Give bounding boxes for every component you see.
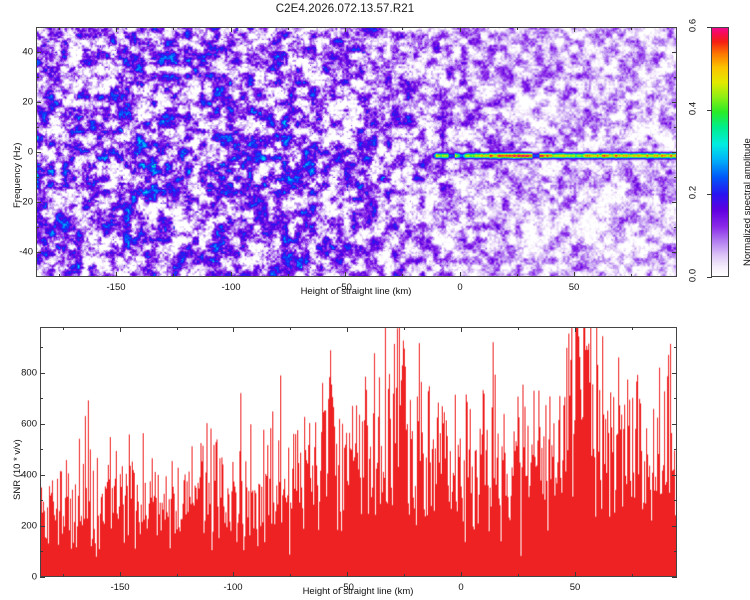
axis-tick	[290, 574, 291, 577]
axis-tick	[518, 574, 519, 577]
snr-y-axis-label: SNR (10 * v/v)	[12, 439, 23, 500]
axis-tick-label: -100	[221, 282, 240, 293]
axis-tick	[231, 272, 232, 277]
axis-tick	[36, 227, 39, 228]
colorbar-tick-label: 0.4	[688, 97, 699, 121]
axis-tick	[672, 252, 677, 253]
snr-trace	[41, 328, 676, 576]
axis-tick-label: 50	[569, 282, 580, 293]
axis-tick	[674, 398, 677, 399]
axis-tick	[63, 574, 64, 577]
axis-tick	[36, 52, 41, 53]
axis-tick	[632, 327, 633, 330]
axis-tick	[672, 373, 677, 374]
axis-tick	[40, 526, 45, 527]
axis-tick	[36, 127, 39, 128]
axis-tick	[575, 572, 576, 577]
axis-tick	[40, 449, 43, 450]
colorbar	[711, 27, 729, 277]
axis-tick	[36, 177, 39, 178]
axis-tick-label: 50	[570, 582, 581, 593]
axis-tick	[460, 272, 461, 277]
axis-tick	[461, 572, 462, 577]
axis-tick	[40, 398, 43, 399]
colorbar-gradient	[712, 28, 728, 276]
axis-tick	[40, 500, 43, 501]
axis-tick	[674, 127, 677, 128]
axis-tick-label: 0	[458, 582, 463, 593]
axis-tick	[231, 27, 232, 32]
axis-tick	[672, 475, 677, 476]
axis-tick	[173, 27, 174, 30]
axis-tick	[177, 574, 178, 577]
axis-tick-label: 200	[0, 521, 37, 532]
axis-tick	[177, 327, 178, 330]
spectrogram-y-axis-label: Frequency (Hz)	[12, 143, 23, 208]
axis-tick	[233, 327, 234, 332]
axis-tick-label: 20	[0, 97, 33, 108]
axis-tick-label: -100	[223, 582, 242, 593]
axis-tick	[233, 572, 234, 577]
axis-tick	[120, 572, 121, 577]
axis-tick	[574, 272, 575, 277]
colorbar-tick	[707, 194, 712, 195]
axis-tick	[36, 102, 41, 103]
axis-tick	[347, 572, 348, 577]
axis-tick	[672, 52, 677, 53]
axis-tick	[40, 347, 43, 348]
axis-tick	[631, 27, 632, 30]
snr-plot-area	[40, 327, 677, 577]
axis-tick	[36, 202, 41, 203]
colorbar-tick-label: 0.2	[688, 180, 699, 204]
axis-tick-label: 0	[457, 282, 462, 293]
axis-tick	[575, 327, 576, 332]
axis-tick-label: 40	[0, 47, 33, 58]
axis-tick	[36, 152, 41, 153]
axis-tick-label: 0	[0, 572, 37, 583]
colorbar-tick	[707, 277, 712, 278]
axis-tick	[674, 227, 677, 228]
colorbar-tick	[707, 27, 712, 28]
figure-canvas: C2E4.2026.072.13.57.R21 -150-100-50050-4…	[0, 0, 750, 600]
page-title: C2E4.2026.072.13.57.R21	[0, 3, 690, 15]
axis-tick	[672, 577, 677, 578]
axis-tick	[40, 577, 45, 578]
axis-tick	[404, 327, 405, 330]
spectrogram-image	[37, 28, 676, 276]
axis-tick	[345, 272, 346, 277]
axis-tick	[116, 27, 117, 32]
axis-tick	[347, 327, 348, 332]
axis-tick	[345, 27, 346, 32]
axis-tick	[672, 152, 677, 153]
axis-tick	[574, 27, 575, 32]
axis-tick	[674, 500, 677, 501]
axis-tick	[40, 424, 45, 425]
axis-tick	[288, 27, 289, 30]
axis-tick	[404, 574, 405, 577]
axis-tick	[402, 27, 403, 30]
axis-tick	[40, 373, 45, 374]
axis-tick	[674, 551, 677, 552]
axis-tick	[290, 327, 291, 330]
axis-tick	[632, 574, 633, 577]
axis-tick-label: -40	[0, 247, 33, 258]
axis-tick	[674, 177, 677, 178]
axis-tick	[59, 27, 60, 30]
colorbar-label: Normalized spectral amplitude	[742, 138, 750, 266]
colorbar-tick-label: 0.0	[688, 264, 699, 288]
spectrogram-x-axis-label: Height of straight line (km)	[301, 286, 412, 297]
axis-tick	[116, 272, 117, 277]
axis-tick-label: 800	[0, 368, 37, 379]
axis-tick	[288, 274, 289, 277]
axis-tick	[672, 202, 677, 203]
axis-tick	[63, 327, 64, 330]
axis-tick	[674, 449, 677, 450]
axis-tick-label: -150	[106, 282, 125, 293]
axis-tick-label: 600	[0, 419, 37, 430]
axis-tick	[518, 327, 519, 330]
axis-tick	[672, 102, 677, 103]
axis-tick	[36, 77, 39, 78]
colorbar-tick-label: 0.6	[688, 14, 699, 38]
axis-tick	[40, 475, 45, 476]
axis-tick	[517, 27, 518, 30]
axis-tick	[460, 27, 461, 32]
axis-tick	[402, 274, 403, 277]
axis-tick	[59, 274, 60, 277]
axis-tick	[461, 327, 462, 332]
colorbar-tick	[707, 110, 712, 111]
axis-tick	[674, 77, 677, 78]
axis-tick	[674, 347, 677, 348]
axis-tick	[672, 424, 677, 425]
axis-tick	[517, 274, 518, 277]
axis-tick	[173, 274, 174, 277]
axis-tick	[40, 551, 43, 552]
snr-x-axis-label: Height of straight line (km)	[303, 586, 414, 597]
axis-tick	[672, 526, 677, 527]
spectrogram-plot-area	[36, 27, 677, 277]
axis-tick-label: -150	[110, 582, 129, 593]
axis-tick	[36, 252, 41, 253]
axis-tick	[120, 327, 121, 332]
axis-tick	[631, 274, 632, 277]
